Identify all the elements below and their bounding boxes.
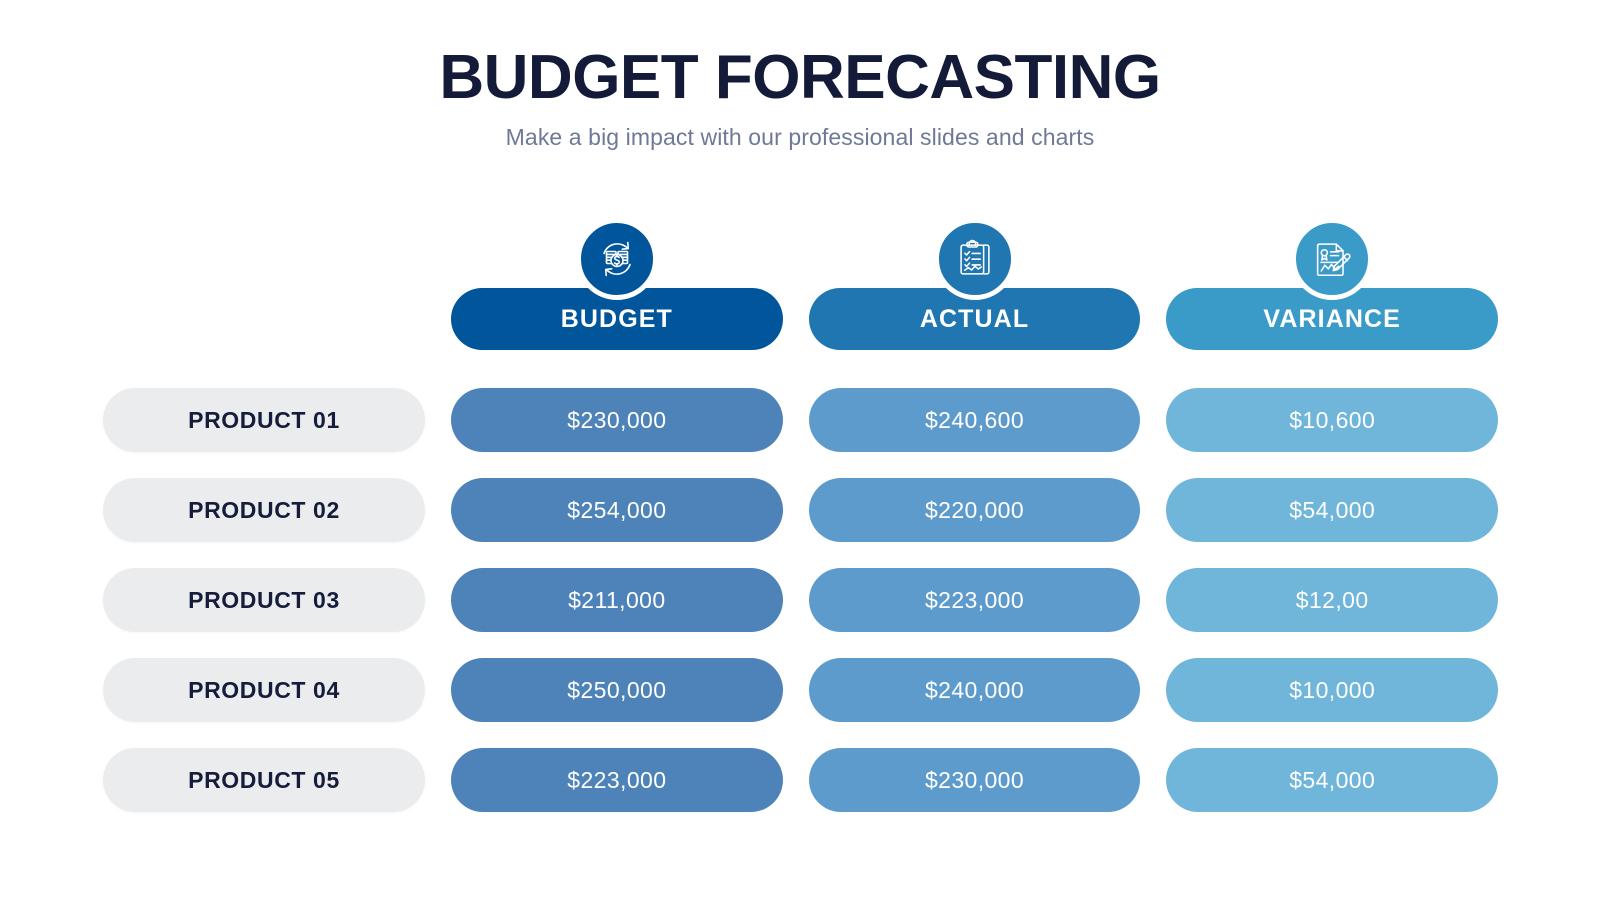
variance-cell: $10,000: [1166, 658, 1498, 722]
variance-cell: $10,600: [1166, 388, 1498, 452]
slide-header: BUDGET FORECASTING Make a big impact wit…: [0, 45, 1600, 151]
column-header-budget[interactable]: BUDGET: [451, 288, 783, 350]
budget-value-text: $250,000: [567, 677, 666, 704]
actual-cell: $230,000: [809, 748, 1141, 812]
budget-value-pill[interactable]: $223,000: [451, 748, 783, 812]
actual-cell: $240,000: [809, 658, 1141, 722]
column-header-label: ACTUAL: [920, 305, 1029, 334]
table-row: PRODUCT 04 $250,000 $240,000 $10,000: [103, 658, 1498, 722]
actual-cell: $220,000: [809, 478, 1141, 542]
product-label-text: PRODUCT 02: [188, 497, 340, 524]
budget-value-pill[interactable]: $254,000: [451, 478, 783, 542]
row-label-cell: PRODUCT 05: [103, 748, 425, 812]
column-header-variance[interactable]: VARIANCE: [1166, 288, 1498, 350]
variance-value-pill[interactable]: $54,000: [1166, 748, 1498, 812]
variance-value-text: $54,000: [1289, 497, 1375, 524]
table-row: PRODUCT 02 $254,000 $220,000 $54,000: [103, 478, 1498, 542]
page-subtitle: Make a big impact with our professional …: [0, 124, 1600, 151]
actual-value-pill[interactable]: $220,000: [809, 478, 1141, 542]
budget-value-pill[interactable]: $250,000: [451, 658, 783, 722]
budget-value-text: $223,000: [567, 767, 666, 794]
variance-value-pill[interactable]: $12,00: [1166, 568, 1498, 632]
budget-cell: $230,000: [451, 388, 783, 452]
actual-value-text: $240,000: [925, 677, 1024, 704]
actual-value-text: $230,000: [925, 767, 1024, 794]
budget-value-pill[interactable]: $211,000: [451, 568, 783, 632]
column-variance: VARIANCE: [1166, 288, 1498, 350]
table-header-row: BUDGET: [103, 288, 1498, 350]
table-row: PRODUCT 01 $230,000 $240,600 $10,600: [103, 388, 1498, 452]
actual-cell: $240,600: [809, 388, 1141, 452]
budget-cell: $223,000: [451, 748, 783, 812]
product-label-pill[interactable]: PRODUCT 03: [103, 568, 425, 632]
variance-value-text: $10,000: [1289, 677, 1375, 704]
variance-value-pill[interactable]: $10,000: [1166, 658, 1498, 722]
budget-value-pill[interactable]: $230,000: [451, 388, 783, 452]
money-cycle-icon: [576, 218, 658, 300]
variance-cell: $54,000: [1166, 478, 1498, 542]
column-header-actual[interactable]: ACTUAL: [809, 288, 1141, 350]
table-row: PRODUCT 03 $211,000 $223,000 $12,00: [103, 568, 1498, 632]
product-label-text: PRODUCT 01: [188, 407, 340, 434]
actual-value-pill[interactable]: $240,600: [809, 388, 1141, 452]
actual-value-text: $220,000: [925, 497, 1024, 524]
actual-value-pill[interactable]: $223,000: [809, 568, 1141, 632]
infographic-slide: BUDGET FORECASTING Make a big impact wit…: [0, 0, 1600, 900]
actual-value-pill[interactable]: $230,000: [809, 748, 1141, 812]
row-label-cell: PRODUCT 02: [103, 478, 425, 542]
column-header-label: VARIANCE: [1263, 305, 1401, 334]
variance-value-pill[interactable]: $54,000: [1166, 478, 1498, 542]
product-label-pill[interactable]: PRODUCT 04: [103, 658, 425, 722]
row-label-cell: PRODUCT 04: [103, 658, 425, 722]
variance-value-text: $10,600: [1289, 407, 1375, 434]
budget-value-text: $254,000: [567, 497, 666, 524]
product-label-text: PRODUCT 05: [188, 767, 340, 794]
row-label-cell: PRODUCT 03: [103, 568, 425, 632]
budget-cell: $250,000: [451, 658, 783, 722]
clipboard-check-icon: [934, 218, 1016, 300]
budget-cell: $254,000: [451, 478, 783, 542]
product-label-text: PRODUCT 03: [188, 587, 340, 614]
actual-cell: $223,000: [809, 568, 1141, 632]
actual-value-text: $223,000: [925, 587, 1024, 614]
variance-cell: $54,000: [1166, 748, 1498, 812]
column-header-label: BUDGET: [561, 305, 673, 334]
budget-value-text: $230,000: [567, 407, 666, 434]
page-title: BUDGET FORECASTING: [0, 45, 1600, 110]
variance-value-text: $12,00: [1296, 587, 1369, 614]
product-label-pill[interactable]: PRODUCT 05: [103, 748, 425, 812]
table-row: PRODUCT 05 $223,000 $230,000 $54,000: [103, 748, 1498, 812]
actual-value-text: $240,600: [925, 407, 1024, 434]
product-label-pill[interactable]: PRODUCT 01: [103, 388, 425, 452]
document-pencil-icon: [1291, 218, 1373, 300]
budget-value-text: $211,000: [568, 587, 665, 614]
budget-cell: $211,000: [451, 568, 783, 632]
variance-value-text: $54,000: [1289, 767, 1375, 794]
variance-cell: $12,00: [1166, 568, 1498, 632]
variance-value-pill[interactable]: $10,600: [1166, 388, 1498, 452]
row-label-cell: PRODUCT 01: [103, 388, 425, 452]
budget-table: BUDGET: [103, 288, 1498, 812]
actual-value-pill[interactable]: $240,000: [809, 658, 1141, 722]
product-label-pill[interactable]: PRODUCT 02: [103, 478, 425, 542]
column-budget: BUDGET: [451, 288, 783, 350]
column-actual: ACTUAL: [809, 288, 1141, 350]
product-label-text: PRODUCT 04: [188, 677, 340, 704]
